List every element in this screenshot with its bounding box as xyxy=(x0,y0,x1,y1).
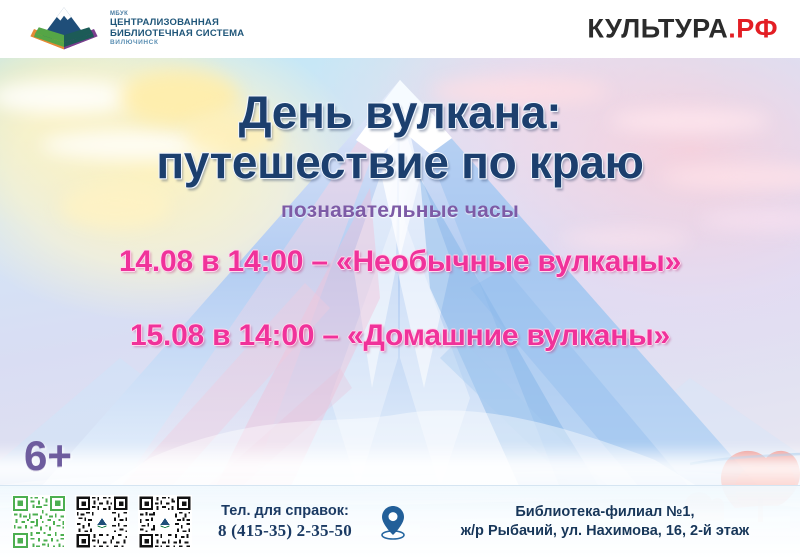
poster-content: День вулкана: путешествие по краю познав… xyxy=(0,58,800,557)
kultura-suffix-text: .РФ xyxy=(728,14,778,44)
address-info: Библиотека-филиал №1, ж/р Рыбачий, ул. Н… xyxy=(424,503,786,541)
poster-canvas: МБУК ЦЕНТРАЛИЗОВАННАЯ БИБЛИОТЕЧНАЯ СИСТЕ… xyxy=(0,0,800,557)
organization-logo: МБУК ЦЕНТРАЛИЗОВАННАЯ БИБЛИОТЕЧНАЯ СИСТЕ… xyxy=(28,5,244,53)
poster-subtitle: познавательные часы xyxy=(0,199,800,223)
header-bar: МБУК ЦЕНТРАЛИЗОВАННАЯ БИБЛИОТЕЧНАЯ СИСТЕ… xyxy=(0,0,800,58)
footer-bar: Тел. для справок: 8 (415-35) 2-35-50 Биб… xyxy=(0,485,800,557)
poster-title: День вулкана: путешествие по краю xyxy=(0,88,800,187)
qr-code-group xyxy=(12,495,192,549)
event-list: 14.08 в 14:00 – «Необычные вулканы» 15.0… xyxy=(0,245,800,353)
title-line-1: День вулкана: xyxy=(0,88,800,138)
map-pin-icon xyxy=(378,504,408,540)
kultura-main-text: КУЛЬТУРА xyxy=(587,14,728,44)
title-line-2: путешествие по краю xyxy=(0,138,800,188)
qr-code-black-logo-icon[interactable] xyxy=(138,495,192,549)
kultura-rf-logo: КУЛЬТУРА.РФ xyxy=(587,14,778,45)
org-line-3: БИБЛИОТЕЧНАЯ СИСТЕМА xyxy=(110,29,244,40)
mountain-book-logo-icon xyxy=(28,5,100,53)
qr-code-green-icon[interactable] xyxy=(12,495,66,549)
age-rating-badge: 6+ xyxy=(24,432,72,480)
phone-number[interactable]: 8 (415-35) 2-35-50 xyxy=(218,520,352,541)
qr-code-black-icon[interactable] xyxy=(75,495,129,549)
phone-label: Тел. для справок: xyxy=(218,502,352,520)
organization-logo-text: МБУК ЦЕНТРАЛИЗОВАННАЯ БИБЛИОТЕЧНАЯ СИСТЕ… xyxy=(110,11,244,46)
org-line-4: ВИЛЮЧИНСК xyxy=(110,39,244,46)
phone-info: Тел. для справок: 8 (415-35) 2-35-50 xyxy=(218,502,352,541)
address-line-1: Библиотека-филиал №1, xyxy=(424,503,786,522)
event-item: 14.08 в 14:00 – «Необычные вулканы» xyxy=(0,245,800,279)
event-item: 15.08 в 14:00 – «Домашние вулканы» xyxy=(0,319,800,353)
address-line-2: ж/р Рыбачий, ул. Нахимова, 16, 2-й этаж xyxy=(424,522,786,541)
